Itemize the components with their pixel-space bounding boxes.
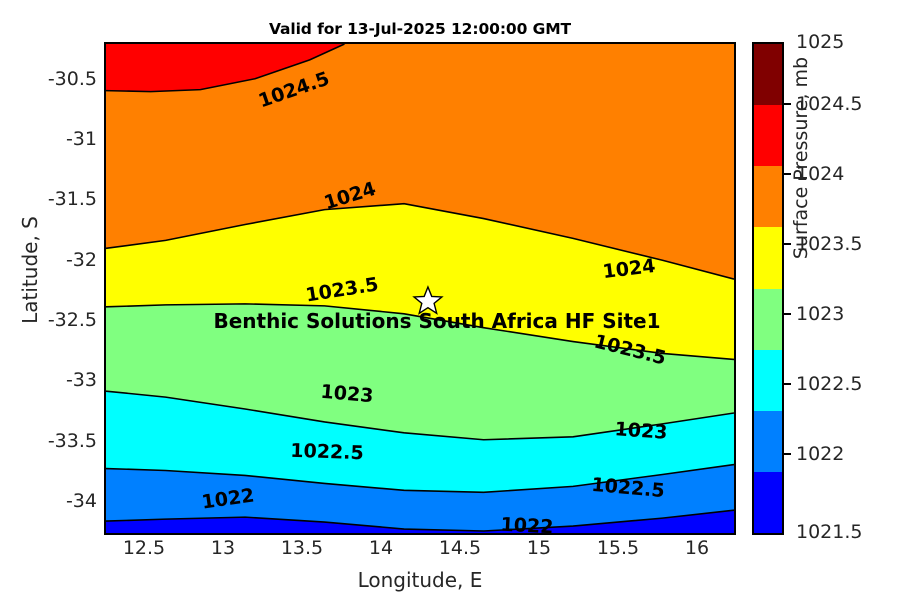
colorbar-band-1021.5	[754, 472, 782, 533]
contour-label: 1022.5	[290, 440, 364, 465]
colorbar	[752, 42, 784, 535]
y-axis-label: Latitude, S	[18, 170, 42, 370]
colorbar-tick-label: 1022	[796, 443, 844, 465]
contour-label: 1023	[320, 381, 375, 408]
site-label: Benthic Solutions South Africa HF Site1	[213, 309, 660, 333]
colorbar-tick-mark	[784, 383, 791, 385]
colorbar-label: Surface Pressure, mb	[790, 28, 812, 288]
y-tick-label: -34	[5, 490, 97, 512]
colorbar-band-1023.5	[754, 227, 782, 288]
contour-field	[106, 44, 734, 533]
contour-label: 1023	[614, 418, 668, 444]
colorbar-band-1025	[754, 44, 782, 105]
colorbar-tick-label: 1021.5	[796, 521, 862, 543]
colorbar-tick-mark	[784, 313, 791, 315]
plot-title: Valid for 13-Jul-2025 12:00:00 GMT	[104, 20, 736, 38]
colorbar-tick-label: 1022.5	[796, 373, 862, 395]
y-tick-label: -33.5	[5, 430, 97, 452]
x-tick-label: 12.5	[123, 537, 165, 559]
x-axis-label: Longitude, E	[104, 568, 736, 592]
colorbar-band-1022.5	[754, 350, 782, 411]
x-axis-ticks: 12.5 13 13.5 14 14.5 15 15.5 16	[104, 537, 736, 567]
x-tick-label: 15.5	[597, 537, 639, 559]
contour-plot-figure: Valid for 13-Jul-2025 12:00:00 GMT	[0, 0, 900, 600]
colorbar-band-1024.5	[754, 105, 782, 166]
y-tick-label: -31	[5, 128, 97, 150]
x-tick-label: 15	[527, 537, 551, 559]
colorbar-band-1023	[754, 289, 782, 350]
colorbar-tick-label: 1023	[796, 303, 844, 325]
y-tick-label: -33	[5, 369, 97, 391]
x-tick-label: 13.5	[281, 537, 323, 559]
x-tick-label: 14.5	[439, 537, 481, 559]
x-tick-label: 13	[211, 537, 235, 559]
colorbar-band-1024	[754, 166, 782, 227]
x-tick-label: 16	[685, 537, 709, 559]
y-axis-ticks: -30.5 -31 -31.5 -32 -32.5 -33 -33.5 -34	[0, 42, 97, 535]
y-tick-label: -30.5	[5, 68, 97, 90]
colorbar-tick-mark	[784, 453, 791, 455]
colorbar-band-1022	[754, 411, 782, 472]
contour-label: 1022	[500, 514, 554, 535]
plot-area: 1024.5 1024 1024 1023.5 1023.5 1023 1023…	[104, 42, 736, 535]
x-tick-label: 14	[369, 537, 393, 559]
